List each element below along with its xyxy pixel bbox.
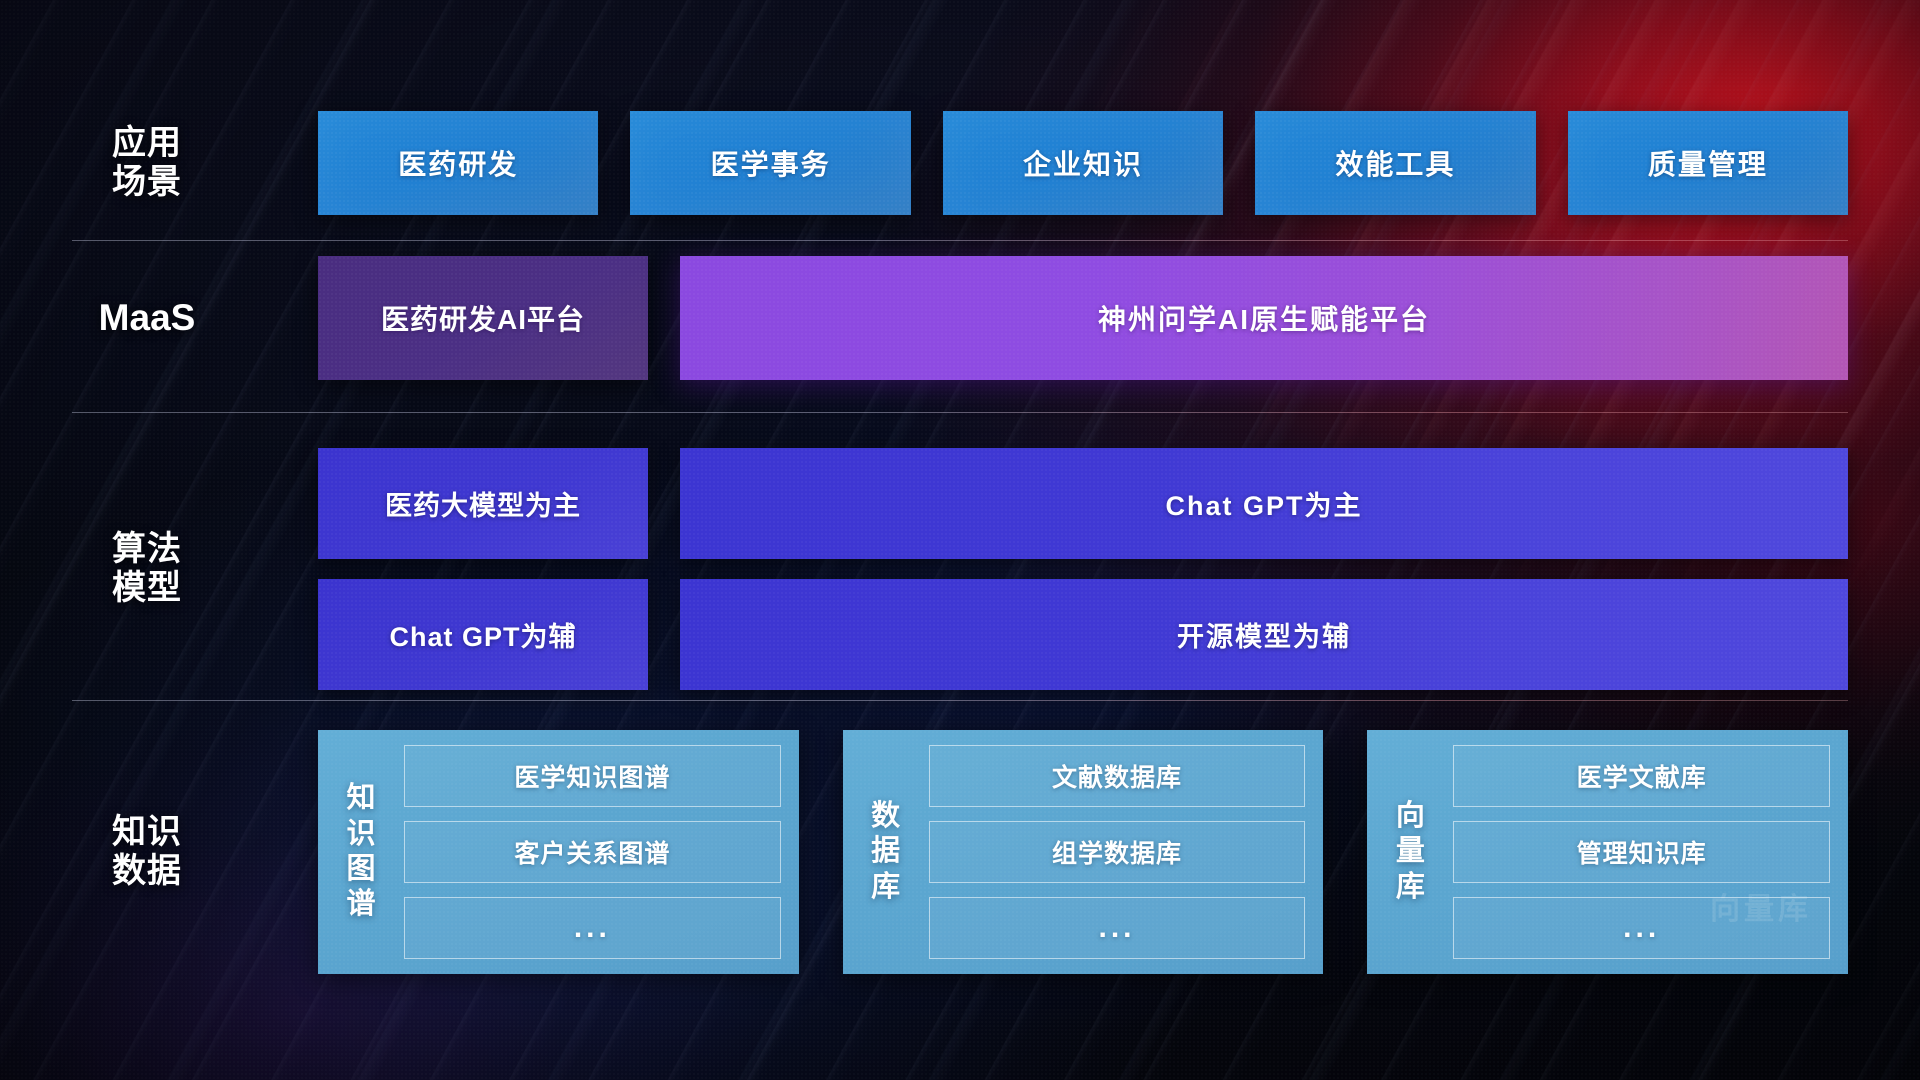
row-algorithm-models: 算法 模型 医药大模型为主 Chat GPT为主 Chat GPT为辅: [72, 448, 1848, 690]
knowledge-card-list: 知 识 图 谱 医学知识图谱 客户关系图谱 ...: [222, 730, 1848, 974]
knowledge-card-vertical-label: 数 据 库: [857, 744, 915, 960]
row-label-algorithm-models: 算法 模型: [72, 530, 222, 609]
algo-box-opensource-model-secondary[interactable]: 开源模型为辅: [680, 579, 1848, 690]
knowledge-pill-literature-database[interactable]: 文献数据库: [929, 745, 1306, 807]
maas-box-label: 神州问学AI原生赋能平台: [1098, 298, 1430, 338]
algorithm-line-primary: 医药大模型为主 Chat GPT为主: [318, 448, 1848, 559]
algorithm-line-list: 医药大模型为主 Chat GPT为主 Chat GPT为辅 开源模型为辅: [222, 448, 1848, 690]
vlabel-char: 库: [1396, 870, 1425, 905]
algo-box-medical-large-model-primary[interactable]: 医药大模型为主: [318, 448, 648, 559]
knowledge-pill-customer-relation-graph[interactable]: 客户关系图谱: [404, 821, 781, 883]
app-box-label: 医药研发: [398, 143, 518, 183]
knowledge-card-vertical-label: 知 识 图 谱: [332, 744, 390, 960]
maas-box-medical-rd-ai-platform[interactable]: 医药研发AI平台: [318, 256, 648, 380]
app-box-quality-management[interactable]: 质量管理: [1568, 111, 1848, 215]
row-knowledge-data: 知识 数据 知 识 图 谱 医学知识图谱 客户关系图谱: [72, 728, 1848, 976]
algo-box-chatgpt-primary[interactable]: Chat GPT为主: [680, 448, 1848, 559]
knowledge-pill-management-knowledge-store[interactable]: 管理知识库: [1453, 821, 1830, 883]
knowledge-pill-medical-knowledge-graph[interactable]: 医学知识图谱: [404, 745, 781, 807]
algo-box-label: Chat GPT为辅: [389, 615, 576, 654]
app-box-label: 企业知识: [1023, 143, 1143, 183]
algo-box-label: Chat GPT为主: [1165, 484, 1362, 523]
app-box-label: 效能工具: [1335, 143, 1455, 183]
knowledge-pill-more[interactable]: ...: [1453, 897, 1830, 959]
knowledge-pill-medical-literature-store[interactable]: 医学文献库: [1453, 745, 1830, 807]
row-application-scenarios: 应用 场景 医药研发 医学事务 企业知识 效能工具: [72, 104, 1848, 222]
knowledge-pill-more[interactable]: ...: [404, 897, 781, 959]
maas-box-list: 医药研发AI平台 神州问学AI原生赋能平台: [222, 256, 1848, 380]
algorithm-models-body: 医药大模型为主 Chat GPT为主 Chat GPT为辅 开源模型为辅: [222, 448, 1848, 690]
knowledge-data-body: 知 识 图 谱 医学知识图谱 客户关系图谱 ...: [222, 730, 1848, 974]
row-maas: MaaS 医药研发AI平台 神州问学AI原生赋能平台: [72, 256, 1848, 380]
knowledge-pill-omics-database[interactable]: 组学数据库: [929, 821, 1306, 883]
row-label-knowledge-data: 知识 数据: [72, 813, 222, 892]
knowledge-pill-list: 文献数据库 组学数据库 ...: [929, 744, 1306, 960]
vlabel-char: 谱: [346, 887, 375, 922]
vlabel-char: 数: [871, 799, 900, 834]
knowledge-pill-list: 医学知识图谱 客户关系图谱 ...: [404, 744, 781, 960]
knowledge-card-knowledge-graph[interactable]: 知 识 图 谱 医学知识图谱 客户关系图谱 ...: [318, 730, 799, 974]
row-label-application-scenarios: 应用 场景: [72, 124, 222, 203]
application-scenarios-body: 医药研发 医学事务 企业知识 效能工具 质量管理: [222, 111, 1848, 215]
algo-box-chatgpt-secondary[interactable]: Chat GPT为辅: [318, 579, 648, 690]
maas-box-label: 医药研发AI平台: [381, 298, 585, 338]
vlabel-char: 据: [871, 834, 900, 869]
app-box-enterprise-knowledge[interactable]: 企业知识: [943, 111, 1223, 215]
diagram-content: 应用 场景 医药研发 医学事务 企业知识 效能工具: [0, 0, 1920, 1080]
maas-box-shenzhou-wenxue-platform[interactable]: 神州问学AI原生赋能平台: [680, 256, 1848, 380]
application-box-list: 医药研发 医学事务 企业知识 效能工具 质量管理: [222, 111, 1848, 215]
app-box-efficiency-tools[interactable]: 效能工具: [1255, 111, 1535, 215]
divider-algorithm-knowledge: [72, 700, 1848, 701]
divider-maas-algorithm: [72, 412, 1848, 413]
app-box-medical-rd[interactable]: 医药研发: [318, 111, 598, 215]
slide-canvas: 应用 场景 医药研发 医学事务 企业知识 效能工具: [0, 0, 1920, 1080]
row-label-maas: MaaS: [72, 297, 222, 340]
app-box-label: 质量管理: [1648, 143, 1768, 183]
vlabel-char: 图: [346, 852, 375, 887]
app-box-medical-affairs[interactable]: 医学事务: [630, 111, 910, 215]
maas-body: 医药研发AI平台 神州问学AI原生赋能平台: [222, 256, 1848, 380]
knowledge-card-vector-store[interactable]: 向 量 库 医学文献库 管理知识库 ... 向量库: [1367, 730, 1848, 974]
algo-box-label: 医药大模型为主: [385, 484, 581, 523]
vlabel-char: 量: [1396, 834, 1425, 869]
vlabel-char: 库: [871, 870, 900, 905]
app-box-label: 医学事务: [711, 143, 831, 183]
knowledge-pill-more[interactable]: ...: [929, 897, 1306, 959]
knowledge-card-database[interactable]: 数 据 库 文献数据库 组学数据库 ...: [843, 730, 1324, 974]
vlabel-char: 向: [1396, 799, 1425, 834]
vlabel-char: 知: [346, 781, 375, 816]
algo-box-label: 开源模型为辅: [1177, 615, 1351, 654]
knowledge-card-vertical-label: 向 量 库: [1381, 744, 1439, 960]
algorithm-line-secondary: Chat GPT为辅 开源模型为辅: [318, 579, 1848, 690]
vlabel-char: 识: [346, 817, 375, 852]
knowledge-pill-list: 医学文献库 管理知识库 ...: [1453, 744, 1830, 960]
divider-apps-maas: [72, 240, 1848, 241]
